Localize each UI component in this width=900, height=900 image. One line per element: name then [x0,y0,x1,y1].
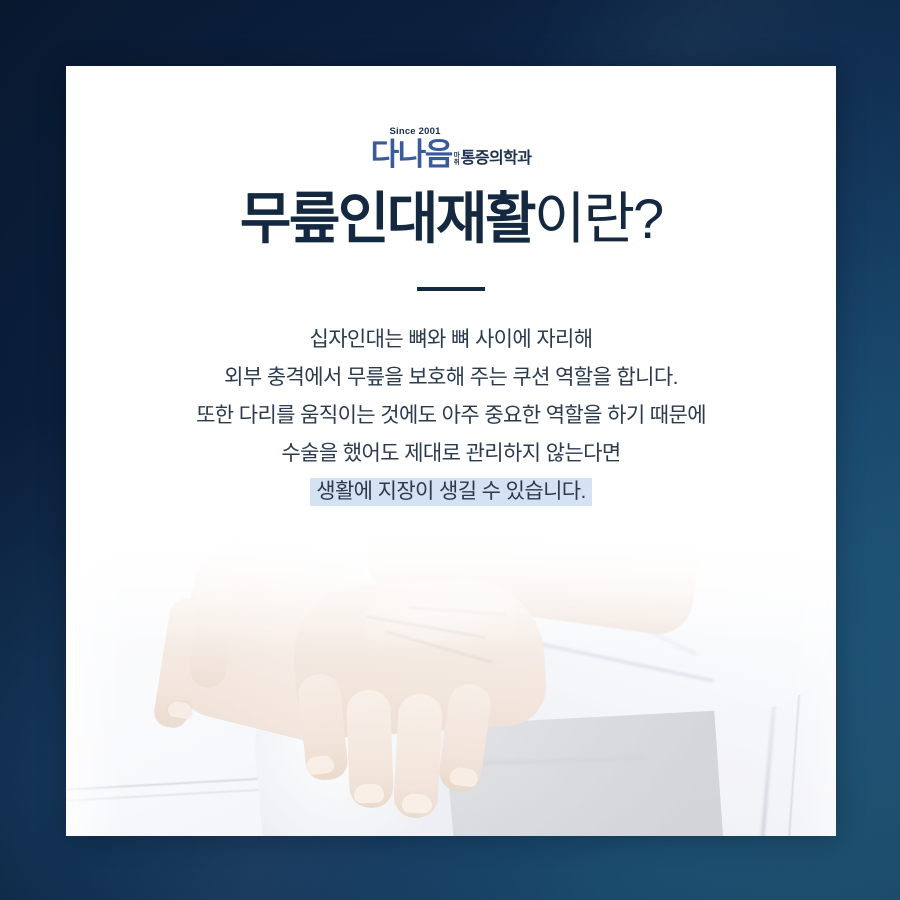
page-title-light: 이란? [534,187,662,250]
title-divider [417,287,485,291]
page-title: 무릎인대재활이란? [66,191,836,247]
title-divider-wrap [66,287,836,291]
page-title-strong: 무릎인대재활 [240,187,534,250]
body-line-text: 수술을 했어도 제대로 관리하지 않는다면 [281,442,620,465]
body-line: 십자인대는 뼈와 뼈 사이에 자리해 [66,321,836,359]
body-line: 또한 다리를 움직이는 것에도 아주 중요한 역할을 하기 때문에 [66,397,836,435]
content-card: Since 2001 다나음 마 취 통증의학과 무릎인대재활이란? 십자인대는… [66,66,836,836]
body-line-text: 외부 충격에서 무릎을 보호해 주는 쿠션 역할을 합니다. [224,366,678,389]
clinic-logo: Since 2001 다나음 마 취 통증의학과 [66,126,836,170]
knee-pain-photo [66,506,836,836]
body-line-text: 십자인대는 뼈와 뼈 사이에 자리해 [309,328,592,351]
photo-top-fade [66,506,836,656]
page-backdrop: Since 2001 다나음 마 취 통증의학과 무릎인대재활이란? 십자인대는… [0,0,900,900]
body-copy: 십자인대는 뼈와 뼈 사이에 자리해 외부 충격에서 무릎을 보호해 주는 쿠션… [66,321,836,511]
body-line-text: 또한 다리를 움직이는 것에도 아주 중요한 역할을 하기 때문에 [196,404,706,427]
body-line: 외부 충격에서 무릎을 보호해 주는 쿠션 역할을 합니다. [66,359,836,397]
logo-wordmark-row: 다나음 마 취 통증의학과 [371,139,532,170]
logo-department: 통증의학과 [461,151,532,167]
logo-wordmark: 다나음 [371,139,452,170]
logo-vertical-char-2: 취 [454,160,460,167]
body-line-text-highlighted: 생활에 지장이 생길 수 있습니다. [310,478,592,506]
logo-since-text: Since 2001 [389,126,440,137]
logo-vertical-small: 마 취 [454,153,460,167]
body-line: 수술을 했어도 제대로 관리하지 않는다면 [66,435,836,473]
